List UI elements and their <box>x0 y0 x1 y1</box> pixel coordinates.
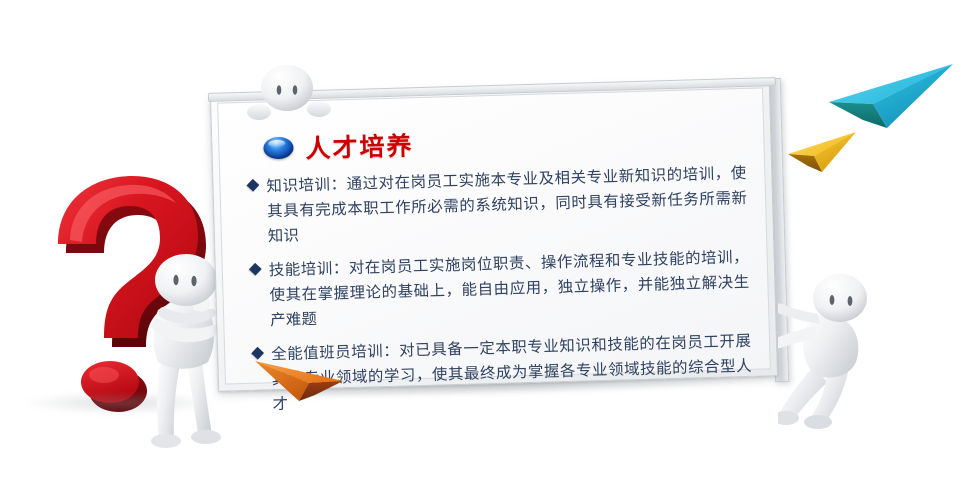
peeking-figure-icon <box>247 62 347 124</box>
bullet-text-1: 知识培训：通过对在岗员工实施本专业及相关专业新知识的培训，使其具有完成本职工作所… <box>266 161 748 249</box>
diamond-bullet-icon <box>249 263 262 276</box>
paper-plane-icon <box>782 128 858 174</box>
bullet-text-2: 技能培训：对在岗员工实施岗位职责、操作流程和专业技能的培训，使其在掌握理论的基础… <box>269 245 751 333</box>
board-content: 人才培养 知识培训：通过对在岗员工实施本专业及相关专业新知识的培训，使其具有完成… <box>241 109 752 371</box>
paper-plane-yellow-graphic <box>782 128 856 172</box>
pushing-figure-graphic <box>778 272 886 432</box>
title-row: 人才培养 <box>263 117 746 166</box>
diamond-bullet-icon <box>247 179 260 192</box>
paper-plane-cyan-graphic <box>815 58 955 128</box>
board-frame: 人才培养 知识培训：通过对在岗员工实施本专业及相关专业新知识的培训，使其具有完成… <box>210 80 778 392</box>
page-title: 人才培养 <box>305 126 414 165</box>
slide-canvas: 人才培养 知识培训：通过对在岗员工实施本专业及相关专业新知识的培训，使其具有完成… <box>0 0 960 481</box>
peeking-figure-graphic <box>247 62 347 122</box>
pushing-figure-icon <box>778 272 886 434</box>
whiteboard: 人才培养 知识培训：通过对在岗员工实施本专业及相关专业新知识的培训，使其具有完成… <box>210 80 778 392</box>
board-surface: 人才培养 知识培训：通过对在岗员工实施本专业及相关专业新知识的培训，使其具有完成… <box>217 87 771 384</box>
list-item: 知识培训：通过对在岗员工实施本专业及相关专业新知识的培训，使其具有完成本职工作所… <box>248 161 748 250</box>
paper-plane-icon <box>815 58 955 130</box>
paper-plane-orange-graphic <box>253 355 345 401</box>
blue-ellipse-bullet-icon <box>263 137 294 160</box>
paper-plane-icon <box>253 355 347 403</box>
list-item: 技能培训：对在岗员工实施岗位职责、操作流程和专业技能的培训，使其在掌握理论的基础… <box>251 245 751 334</box>
